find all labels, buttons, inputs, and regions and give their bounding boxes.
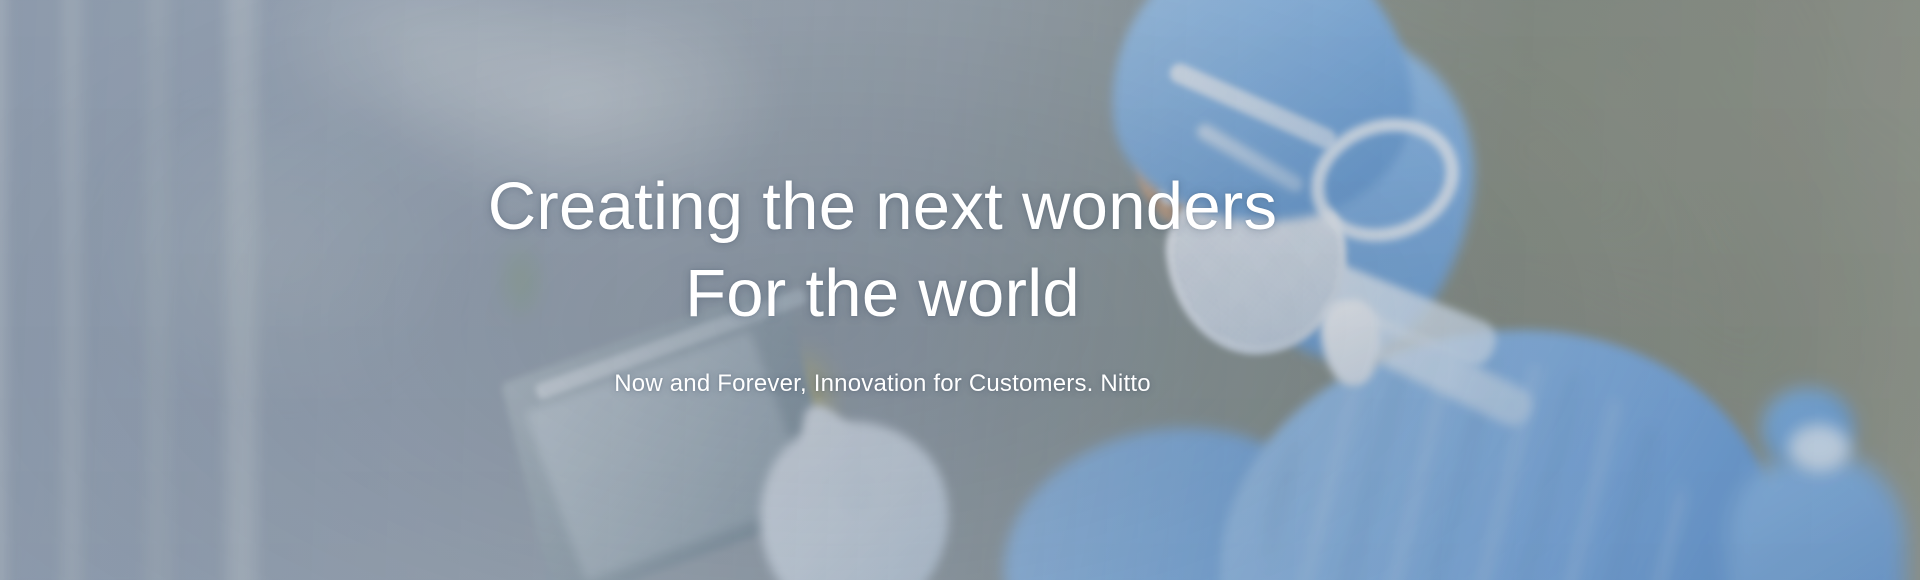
hero-title: Creating the next wonders For the world — [488, 163, 1278, 337]
hero-copy: Creating the next wonders For the world … — [0, 0, 1920, 580]
hero-title-line-1: Creating the next wonders — [488, 163, 1278, 250]
hero-subtitle: Now and Forever, Innovation for Customer… — [614, 367, 1151, 401]
hero-banner: Creating the next wonders For the world … — [0, 0, 1920, 580]
hero-title-line-2: For the world — [488, 250, 1278, 337]
